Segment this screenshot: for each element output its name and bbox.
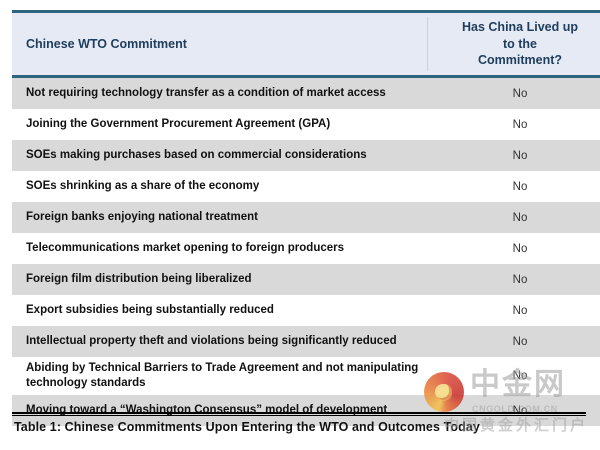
cell-commitment: Export subsidies being substantially red… bbox=[12, 295, 428, 326]
cell-answer: No bbox=[428, 326, 600, 357]
cell-answer: No bbox=[428, 77, 600, 110]
cell-commitment: Not requiring technology transfer as a c… bbox=[12, 77, 428, 110]
cell-commitment: SOEs making purchases based on commercia… bbox=[12, 140, 428, 171]
table-row: Foreign banks enjoying national treatmen… bbox=[12, 202, 600, 233]
column-header-line-3: Commitment? bbox=[478, 53, 562, 67]
table-row: Not requiring technology transfer as a c… bbox=[12, 77, 600, 110]
cell-answer: No bbox=[428, 233, 600, 264]
wto-commitments-table-wrapper: Chinese WTO Commitment Has China Lived u… bbox=[12, 10, 586, 426]
cell-answer: No bbox=[428, 264, 600, 295]
table-row: Abiding by Technical Barriers to Trade A… bbox=[12, 357, 600, 395]
table-row: SOEs shrinking as a share of the economy… bbox=[12, 171, 600, 202]
table-header-row: Chinese WTO Commitment Has China Lived u… bbox=[12, 12, 600, 77]
cell-answer: No bbox=[428, 357, 600, 395]
table-row: Intellectual property theft and violatio… bbox=[12, 326, 600, 357]
cell-answer: No bbox=[428, 140, 600, 171]
figure-container: Chinese WTO Commitment Has China Lived u… bbox=[0, 0, 600, 450]
table-bottom-rule bbox=[12, 412, 586, 416]
table-body: Not requiring technology transfer as a c… bbox=[12, 77, 600, 427]
table-header: Chinese WTO Commitment Has China Lived u… bbox=[12, 12, 600, 77]
cell-answer: No bbox=[428, 202, 600, 233]
cell-commitment: Telecommunications market opening to for… bbox=[12, 233, 428, 264]
table-row: Export subsidies being substantially red… bbox=[12, 295, 600, 326]
table-row: SOEs making purchases based on commercia… bbox=[12, 140, 600, 171]
cell-commitment: Foreign film distribution being liberali… bbox=[12, 264, 428, 295]
table-row: Joining the Government Procurement Agree… bbox=[12, 109, 600, 140]
cell-commitment: Joining the Government Procurement Agree… bbox=[12, 109, 428, 140]
cell-answer: No bbox=[428, 109, 600, 140]
column-header-chinese-wto-commitment: Chinese WTO Commitment bbox=[12, 12, 428, 77]
cell-commitment: Foreign banks enjoying national treatmen… bbox=[12, 202, 428, 233]
column-header-line-1: Has China Lived up bbox=[462, 20, 578, 34]
table-row: Telecommunications market opening to for… bbox=[12, 233, 600, 264]
cell-answer: No bbox=[428, 295, 600, 326]
wto-commitments-table: Chinese WTO Commitment Has China Lived u… bbox=[12, 10, 600, 426]
cell-commitment: SOEs shrinking as a share of the economy bbox=[12, 171, 428, 202]
table-row: Foreign film distribution being liberali… bbox=[12, 264, 600, 295]
column-header-line-2: to the bbox=[503, 37, 537, 51]
cell-commitment: Abiding by Technical Barriers to Trade A… bbox=[12, 357, 428, 395]
cell-answer: No bbox=[428, 171, 600, 202]
cell-commitment: Intellectual property theft and violatio… bbox=[12, 326, 428, 357]
column-header-has-china-lived-up: Has China Lived up to the Commitment? bbox=[428, 12, 600, 77]
table-caption: Table 1: Chinese Commitments Upon Enteri… bbox=[14, 420, 586, 434]
